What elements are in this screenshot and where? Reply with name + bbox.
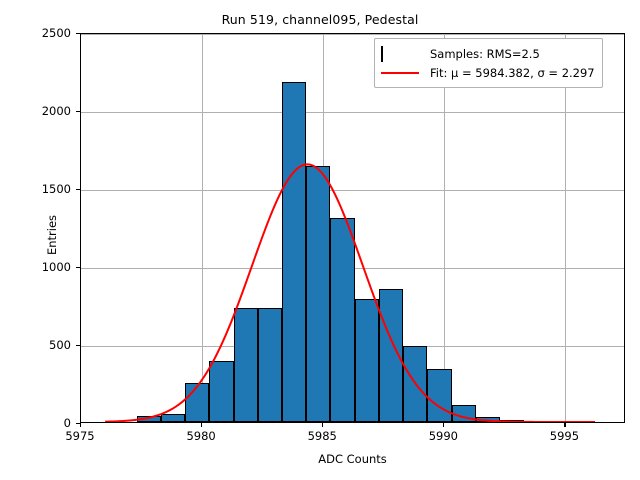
- x-tick-mark: [564, 423, 565, 427]
- histogram-figure: Run 519, channel095, Pedestal 0500100015…: [0, 0, 640, 480]
- x-tick-label: 5995: [529, 429, 599, 443]
- legend-patch-icon: [381, 47, 421, 61]
- legend-item-fit: Fit: μ = 5984.382, σ = 2.297: [381, 63, 595, 82]
- y-axis-label: Entries: [45, 175, 59, 295]
- legend-label-samples: Samples: RMS=2.5: [430, 47, 540, 61]
- x-tick-label: 5985: [287, 429, 357, 443]
- chart-legend: Samples: RMS=2.5 Fit: μ = 5984.382, σ = …: [374, 38, 603, 88]
- x-tick-label: 5975: [45, 429, 115, 443]
- x-tick-label: 5980: [166, 429, 236, 443]
- x-tick-label: 5990: [408, 429, 478, 443]
- legend-line-icon: [381, 66, 421, 80]
- x-tick-mark: [80, 423, 81, 427]
- x-tick-mark: [201, 423, 202, 427]
- x-tick-mark: [443, 423, 444, 427]
- x-axis-label: ADC Counts: [80, 452, 625, 466]
- legend-item-samples: Samples: RMS=2.5: [381, 44, 595, 63]
- x-tick-mark: [322, 423, 323, 427]
- legend-label-fit: Fit: μ = 5984.382, σ = 2.297: [430, 66, 595, 80]
